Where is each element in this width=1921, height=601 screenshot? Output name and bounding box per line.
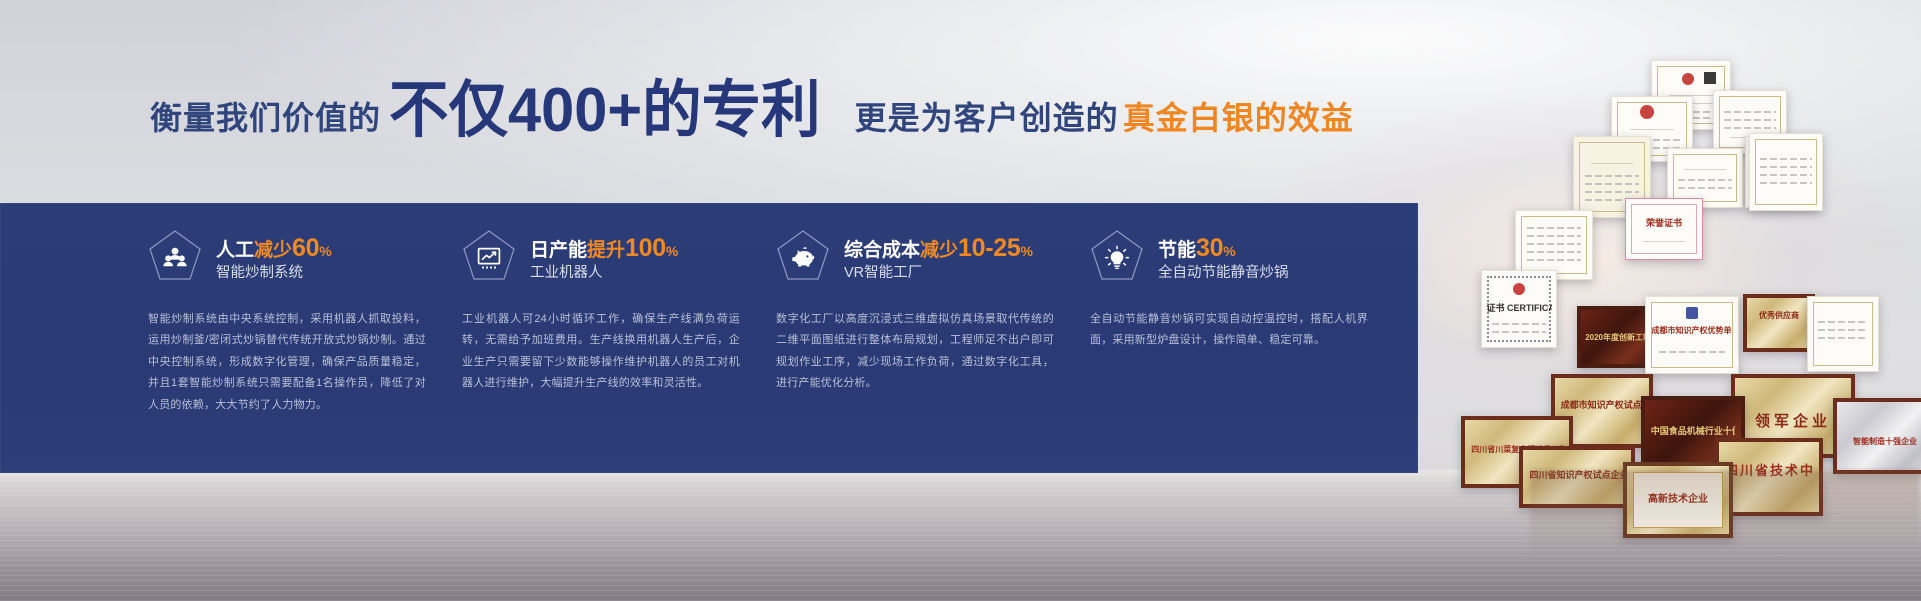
feature-body-2: 工业机器人可24小时循环工作，确保生产线满负荷运转，无需给予加班费用。生产线换用… <box>462 309 740 395</box>
feature-subtitle-3: VR智能工厂 <box>844 266 1033 281</box>
feature-column-2: 日产能提升100% 工业机器人 工业机器人可24小时循环工作，确保生产线满负荷运… <box>462 225 776 451</box>
stat-number-3: 10-25 <box>958 234 1020 262</box>
features-columns: 人工减少60% 智能炒制系统 智能炒制系统由中央系统控制，采用机器人抓取投料，运… <box>148 225 1406 451</box>
feature-column-3: 综合成本减少10-25% VR智能工厂 数字化工厂以高度沉浸式三维虚拟仿真场景取… <box>776 225 1090 451</box>
certificates-reflection <box>1530 470 1920 560</box>
chart-monitor-glyph <box>462 229 516 287</box>
feature-column-4: 节能30% 全自动节能静音炒锅 全自动节能静音炒锅可实现自动控温控时，搭配人机界… <box>1090 225 1404 451</box>
plaque-title: 2020年度创新工程奖 <box>1585 332 1647 343</box>
headline-lead: 衡量我们价值的 <box>150 102 381 134</box>
stat-unit-1: % <box>319 243 331 259</box>
feature-stat-4: 节能30% <box>1158 236 1289 261</box>
headline-middle: 更是为客户创造的 <box>855 102 1119 134</box>
plaque-title: 荣誉证书 <box>1631 216 1698 229</box>
lightbulb-glyph <box>1090 229 1144 287</box>
certificate-award-white: 成都市知识产权优势单位 <box>1645 296 1739 374</box>
stat-unit-2: % <box>666 243 678 259</box>
plaque-title: 中国食品机械行业十佳系统集成商 <box>1651 424 1736 437</box>
feature-column-1: 人工减少60% 智能炒制系统 智能炒制系统由中央系统控制，采用机器人抓取投料，运… <box>148 225 462 451</box>
stat-action-2: 提升 <box>587 240 625 261</box>
promo-banner: 衡量我们价值的 不仅400+的专利 更是为客户创造的 真金白银的效益 <box>0 0 1921 601</box>
page-title: 衡量我们价值的 不仅400+的专利 更是为客户创造的 真金白银的效益 <box>150 78 1354 140</box>
stat-action-3: 减少 <box>920 240 958 261</box>
plaque-dark: 2020年度创新工程奖 <box>1577 306 1655 368</box>
plaque-title: 领军企业 <box>1742 410 1844 431</box>
feature-text-3: 综合成本减少10-25% VR智能工厂 <box>844 236 1033 281</box>
chart-monitor-icon <box>462 229 516 287</box>
feature-text-4: 节能30% 全自动节能静音炒锅 <box>1158 236 1289 281</box>
headline-emphasis: 不仅400+的专利 <box>389 80 821 142</box>
features-panel: 人工减少60% 智能炒制系统 智能炒制系统由中央系统控制，采用机器人抓取投料，运… <box>0 203 1418 473</box>
feature-subtitle-4: 全自动节能静音炒锅 <box>1158 266 1289 281</box>
feature-body-3: 数字化工厂以高度沉浸式三维虚拟仿真场景取代传统的二维平面图纸进行整体布局规划，工… <box>776 309 1054 395</box>
stat-number-1: 60 <box>292 234 319 262</box>
plaque-silver: 智能制造十强企业 <box>1833 398 1921 474</box>
stat-label-4: 节能 <box>1158 240 1196 261</box>
headline-highlight: 真金白银的效益 <box>1123 102 1354 134</box>
people-group-glyph <box>148 229 202 287</box>
plaque-title: 优秀供应商 <box>1751 310 1807 321</box>
feature-header-4: 节能30% 全自动节能静音炒锅 <box>1090 225 1368 291</box>
stat-unit-4: % <box>1223 243 1235 259</box>
feature-stat-3: 综合成本减少10-25% <box>844 236 1033 261</box>
certificate-paper <box>1807 296 1879 372</box>
feature-body-1: 智能炒制系统由中央系统控制，采用机器人抓取投料，运用炒制釜/密闭式炒锅替代传统开… <box>148 309 426 416</box>
feature-stat-1: 人工减少60% <box>216 236 332 261</box>
people-group-icon <box>148 229 202 287</box>
feature-stat-2: 日产能提升100% <box>530 236 678 261</box>
feature-text-1: 人工减少60% 智能炒制系统 <box>216 236 332 281</box>
feature-body-4: 全自动节能静音炒锅可实现自动控温控时，搭配人机界面，采用新型炉盘设计，操作简单、… <box>1090 309 1368 352</box>
plaque-gold-small: 优秀供应商 <box>1743 294 1815 352</box>
stat-unit-3: % <box>1020 243 1032 259</box>
plaque-title: 智能制造十强企业 <box>1843 436 1921 447</box>
certificate-paper <box>1749 133 1823 211</box>
piggy-bank-icon <box>776 229 830 287</box>
feature-subtitle-1: 智能炒制系统 <box>216 266 332 281</box>
certificate-honor: 荣誉证书 <box>1625 198 1703 260</box>
feature-text-2: 日产能提升100% 工业机器人 <box>530 236 678 281</box>
plaque-title: 成都市知识产权试点企业 <box>1561 398 1644 411</box>
plaque-title: 成都市知识产权优势单位 <box>1652 325 1733 336</box>
feature-header-3: 综合成本减少10-25% VR智能工厂 <box>776 225 1054 291</box>
feature-header-1: 人工减少60% 智能炒制系统 <box>148 225 426 291</box>
stat-number-4: 30 <box>1196 234 1223 262</box>
certificates-showcase: 荣誉证书 证书 CERTIFICATE 2020年度创新工程奖 成都市知识产权优… <box>1455 38 1921 498</box>
lightbulb-icon <box>1090 229 1144 287</box>
certificate-dotted: 证书 CERTIFICATE <box>1481 270 1557 348</box>
stat-label-3: 综合成本 <box>844 240 920 261</box>
feature-header-2: 日产能提升100% 工业机器人 <box>462 225 740 291</box>
stat-number-2: 100 <box>625 234 666 262</box>
plaque-title: 证书 CERTIFICATE <box>1486 301 1551 314</box>
stat-label-2: 日产能 <box>530 240 587 261</box>
stat-label-1: 人工 <box>216 240 254 261</box>
feature-subtitle-2: 工业机器人 <box>530 266 678 281</box>
stat-action-1: 减少 <box>254 240 292 261</box>
piggy-bank-glyph <box>776 229 830 287</box>
